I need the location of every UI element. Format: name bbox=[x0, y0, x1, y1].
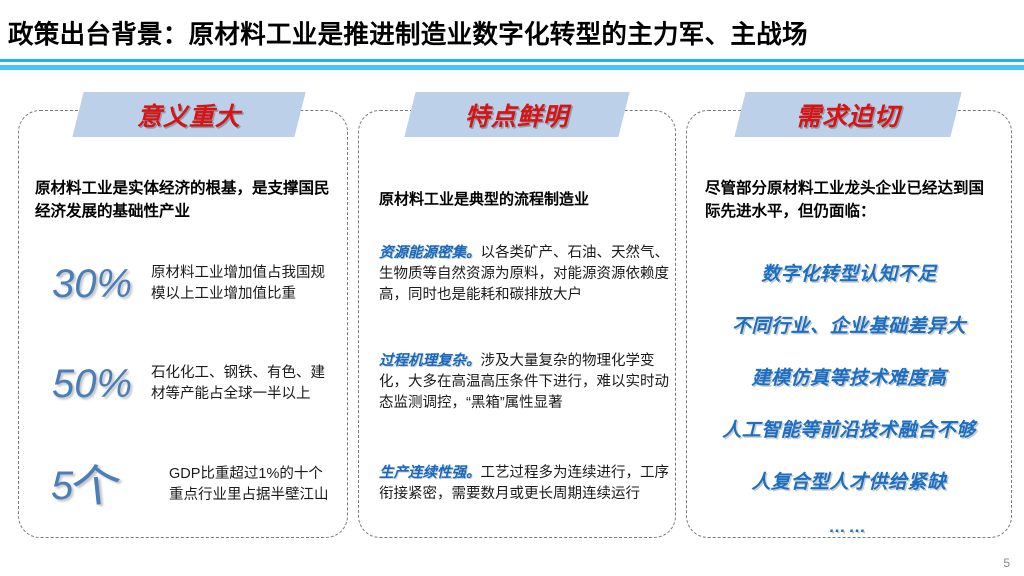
card-lead-characteristics: 原材料工业是典型的流程制造业 bbox=[379, 189, 663, 212]
title-divider bbox=[0, 59, 1024, 72]
banner-label: 意义重大 bbox=[137, 97, 241, 133]
card-lead-significance: 原材料工业是实体经济的根基，是支撑国民经济发展的基础性产业 bbox=[35, 177, 335, 224]
stat-row: 5个 GDP比重超过1%的十个重点行业里占据半壁江山 bbox=[33, 463, 335, 507]
divider-line-bottom bbox=[0, 65, 1024, 70]
card-body-significance: 原材料工业是实体经济的根基，是支撑国民经济发展的基础性产业 30% 原材料工业增… bbox=[19, 111, 347, 537]
card-lead-demand: 尽管部分原材料工业龙头企业已经达到国际先进水平，但仍面临： bbox=[705, 177, 997, 224]
banner-characteristics: 特点鲜明 bbox=[404, 92, 629, 137]
characteristic-paragraph: 过程机理复杂。涉及大量复杂的物理化学变化，大多在高温高压条件下进行，难以实时动态… bbox=[379, 351, 671, 414]
banner-label: 特点鲜明 bbox=[465, 97, 569, 133]
demand-item: 数字化转型认知不足 bbox=[687, 259, 1011, 286]
characteristic-highlight: 生产连续性强。 bbox=[379, 465, 481, 481]
banner-label: 需求迫切 bbox=[796, 97, 900, 133]
banner-demand: 需求迫切 bbox=[734, 92, 961, 137]
card-body-characteristics: 原材料工业是典型的流程制造业 资源能源密集。以各类矿产、石油、天然气、生物质等自… bbox=[359, 111, 675, 537]
content-columns: 原材料工业是实体经济的根基，是支撑国民经济发展的基础性产业 30% 原材料工业增… bbox=[0, 92, 1024, 562]
characteristic-highlight: 资源能源密集。 bbox=[379, 245, 481, 261]
stat-value: 30% bbox=[33, 264, 151, 304]
up-arrow-icon: 个 bbox=[70, 462, 125, 511]
stat-description: GDP比重超过1%的十个重点行业里占据半壁江山 bbox=[169, 464, 335, 505]
characteristic-highlight: 过程机理复杂。 bbox=[379, 353, 481, 369]
demand-item: 人工智能等前沿技术融合不够 bbox=[687, 415, 1011, 442]
demand-item-ellipsis: …… bbox=[687, 517, 1011, 537]
card-demand: 尽管部分原材料工业龙头企业已经达到国际先进水平，但仍面临： 数字化转型认知不足 … bbox=[686, 110, 1012, 538]
divider-line-top bbox=[0, 59, 1024, 62]
card-significance: 原材料工业是实体经济的根基，是支撑国民经济发展的基础性产业 30% 原材料工业增… bbox=[18, 110, 348, 538]
stat-value: 50% bbox=[33, 364, 151, 404]
page-number: 5 bbox=[1003, 556, 1010, 570]
demand-item: 不同行业、企业基础差异大 bbox=[687, 311, 1011, 338]
stat-value: 5个 bbox=[33, 463, 169, 507]
card-body-demand: 尽管部分原材料工业龙头企业已经达到国际先进水平，但仍面临： 数字化转型认知不足 … bbox=[687, 111, 1011, 537]
page-title: 政策出台背景：原材料工业是推进制造业数字化转型的主力军、主战场 bbox=[8, 14, 808, 51]
banner-significance: 意义重大 bbox=[72, 92, 305, 137]
demand-item: 人复合型人才供给紧缺 bbox=[687, 467, 1011, 494]
characteristic-paragraph: 生产连续性强。工艺过程多为连续进行，工序衔接紧密，需要数月或更长周期连续运行 bbox=[379, 463, 671, 505]
characteristic-paragraph: 资源能源密集。以各类矿产、石油、天然气、生物质等自然资源为原料，对能源资源依赖度… bbox=[379, 243, 671, 306]
stat-description: 石化化工、钢铁、有色、建材等产能占全球一半以上 bbox=[151, 363, 335, 404]
stat-description: 原材料工业增加值占我国规模以上工业增加值比重 bbox=[151, 263, 335, 304]
card-characteristics: 原材料工业是典型的流程制造业 资源能源密集。以各类矿产、石油、天然气、生物质等自… bbox=[358, 110, 676, 538]
stat-row: 50% 石化化工、钢铁、有色、建材等产能占全球一半以上 bbox=[33, 363, 335, 404]
stat-row: 30% 原材料工业增加值占我国规模以上工业增加值比重 bbox=[33, 263, 335, 304]
demand-item: 建模仿真等技术难度高 bbox=[687, 363, 1011, 390]
